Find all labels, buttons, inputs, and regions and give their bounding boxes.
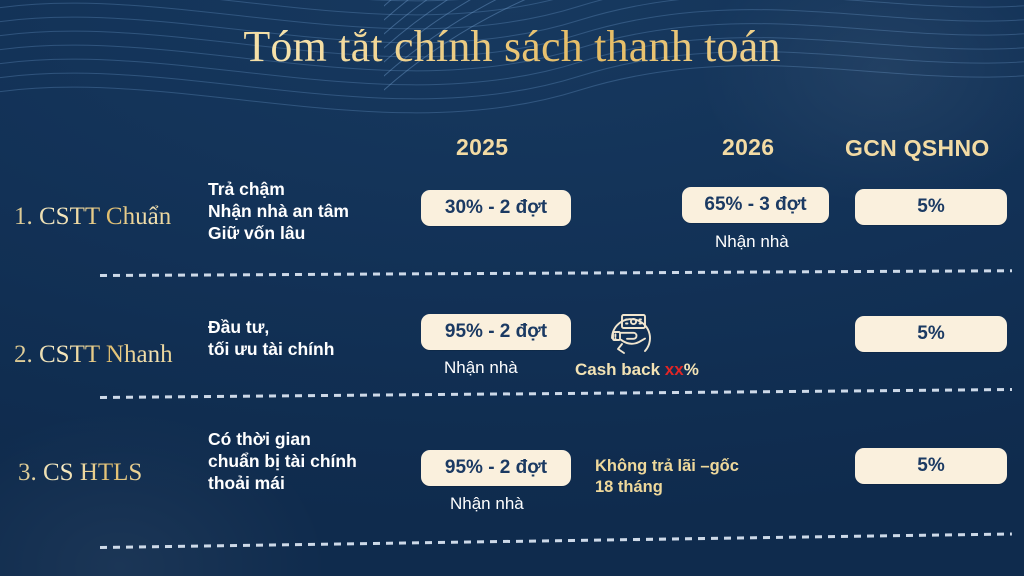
row-description: Đầu tư,tối ưu tài chính <box>208 316 418 360</box>
row-separator <box>100 532 1012 549</box>
row-label-cstt-nhanh: 2. CSTT Nhanh <box>14 340 210 370</box>
cashback-label: Cash back xx% <box>575 360 755 380</box>
row-separator <box>100 269 1012 277</box>
note-2025: Nhận nhà <box>444 358 518 378</box>
cashback-cell: Cash back xx% <box>575 308 745 384</box>
note-2025: Nhận nhà <box>450 494 524 514</box>
slide-canvas: Tóm tắt chính sách thanh toán 2025 2026 … <box>0 0 1024 576</box>
pill-gcn[interactable]: 5% <box>855 316 1007 352</box>
pill-2025[interactable]: 95% - 2 đợt <box>421 314 571 350</box>
table-row: 3. CS HTLS Có thời gianchuẩn bị tài chín… <box>0 424 1024 532</box>
pill-2025[interactable]: 95% - 2 đợt <box>421 450 571 486</box>
cashback-value: xx <box>665 360 684 379</box>
row-description: Có thời gianchuẩn bị tài chínhthoải mái <box>208 428 418 494</box>
pill-2026[interactable]: 65% - 3 đợt <box>682 187 829 223</box>
note-2026: Nhận nhà <box>715 232 789 252</box>
cashback-icon <box>605 308 659 360</box>
column-header-2025: 2025 <box>456 134 508 161</box>
column-header-2026: 2026 <box>722 134 774 161</box>
note-2026-interest-free: Không trả lãi –gốc18 tháng <box>595 456 795 498</box>
cashback-suffix: % <box>684 360 699 379</box>
cashback-prefix: Cash back <box>575 360 665 379</box>
pill-gcn[interactable]: 5% <box>855 189 1007 225</box>
table-row: 2. CSTT Nhanh Đầu tư,tối ưu tài chính 95… <box>0 300 1024 396</box>
row-description: Trả chậmNhận nhà an tâmGiữ vốn lâu <box>208 178 418 244</box>
row-label-cs-htls: 3. CS HTLS <box>18 458 214 488</box>
pill-2025[interactable]: 30% - 2 đợt <box>421 190 571 226</box>
pill-gcn[interactable]: 5% <box>855 448 1007 484</box>
table-row: 1. CSTT Chuẩn Trả chậmNhận nhà an tâmGiữ… <box>0 170 1024 266</box>
page-title: Tóm tắt chính sách thanh toán <box>0 18 1024 76</box>
row-label-cstt-chuan: 1. CSTT Chuẩn <box>14 202 210 232</box>
column-header-gcn-qshno: GCN QSHNO <box>845 135 990 162</box>
